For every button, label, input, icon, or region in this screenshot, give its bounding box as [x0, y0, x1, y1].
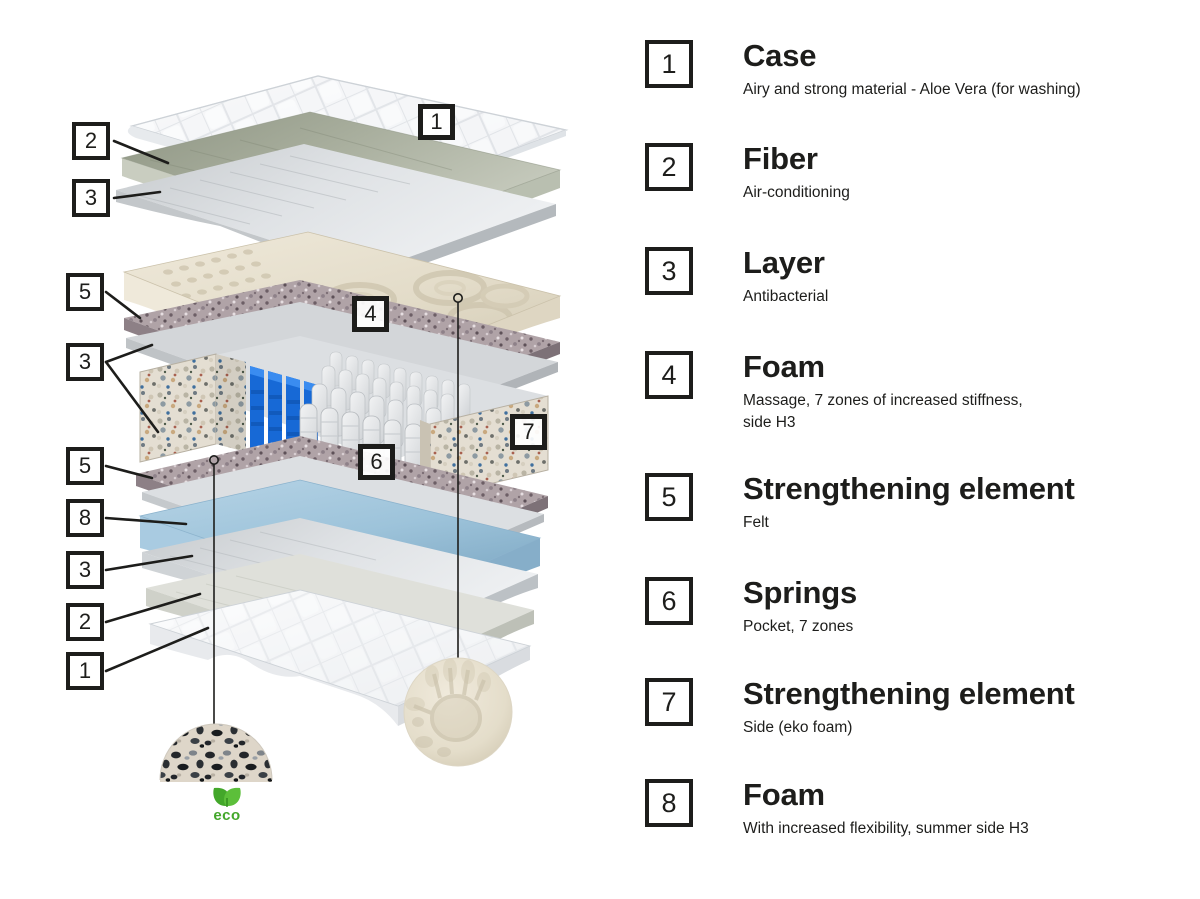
- legend-number-2: 2: [645, 143, 693, 191]
- legend-title-strengthening-side: Strengthening element: [743, 678, 1190, 710]
- legend-desc-foam-flexible: With increased flexibility, summer side …: [743, 818, 1190, 839]
- legend-title-foam-massage: Foam: [743, 351, 1190, 383]
- callout-1-case-bottom[interactable]: 1: [66, 652, 104, 690]
- legend-title-case: Case: [743, 40, 1190, 72]
- callout-5-felt-lower[interactable]: 5: [66, 447, 104, 485]
- legend-item-fiber[interactable]: 2 Fiber Air-conditioning: [645, 143, 1190, 247]
- legend-item-case[interactable]: 1 Case Airy and strong material - Aloe V…: [645, 40, 1190, 143]
- callout-5-felt-upper[interactable]: 5: [66, 273, 104, 311]
- eco-label: eco: [213, 808, 240, 823]
- legend-title-foam-flexible: Foam: [743, 779, 1190, 811]
- legend-number-8: 8: [645, 779, 693, 827]
- callout-3-layer-bottom[interactable]: 3: [66, 551, 104, 589]
- callout-3-layer-top[interactable]: 3: [72, 179, 110, 217]
- label-1-quilted-case-top[interactable]: 1: [418, 104, 455, 140]
- legend-number-3: 3: [645, 247, 693, 295]
- legend-desc-strengthening-side: Side (eko foam): [743, 717, 1190, 738]
- legend-item-strengthening-side[interactable]: 7 Strengthening element Side (eko foam): [645, 678, 1190, 779]
- legend-item-foam-massage[interactable]: 4 Foam Massage, 7 zones of increased sti…: [645, 351, 1190, 473]
- mattress-layers-infographic: 2 3 5 3 5 8 3 2 1 1 4 6 7 eco 1 Case Air…: [0, 0, 1200, 899]
- legend-desc-fiber: Air-conditioning: [743, 182, 1190, 203]
- legend-list: 1 Case Airy and strong material - Aloe V…: [645, 40, 1190, 869]
- legend-title-layer: Layer: [743, 247, 1190, 279]
- legend-number-7: 7: [645, 678, 693, 726]
- callout-3-layer-mid-fork[interactable]: 3: [66, 343, 104, 381]
- legend-desc-layer: Antibacterial: [743, 286, 1190, 307]
- legend-item-springs[interactable]: 6 Springs Pocket, 7 zones: [645, 577, 1190, 678]
- legend-title-strengthening-felt: Strengthening element: [743, 473, 1190, 505]
- legend-item-layer[interactable]: 3 Layer Antibacterial: [645, 247, 1190, 351]
- legend-desc-foam-massage: Massage, 7 zones of increased stiffness,…: [743, 390, 1190, 433]
- legend-title-springs: Springs: [743, 577, 1190, 609]
- legend-number-6: 6: [645, 577, 693, 625]
- legend-number-4: 4: [645, 351, 693, 399]
- legend-title-fiber: Fiber: [743, 143, 1190, 175]
- legend-number-5: 5: [645, 473, 693, 521]
- label-4-massage-foam[interactable]: 4: [352, 296, 389, 332]
- detail-memoryfoam-handprint: [404, 658, 512, 766]
- legend-number-1: 1: [645, 40, 693, 88]
- legend-desc-strengthening-felt: Felt: [743, 512, 1190, 533]
- eco-badge: eco: [196, 784, 258, 823]
- callout-2-fiber-bottom[interactable]: 2: [66, 603, 104, 641]
- legend-desc-case: Airy and strong material - Aloe Vera (fo…: [743, 79, 1190, 100]
- label-7-eko-foam-side[interactable]: 7: [510, 414, 547, 450]
- mattress-exploded-diagram: 2 3 5 3 5 8 3 2 1 1 4 6 7 eco: [0, 0, 645, 899]
- callout-2-fiber-top[interactable]: 2: [72, 122, 110, 160]
- legend-item-strengthening-felt[interactable]: 5 Strengthening element Felt: [645, 473, 1190, 577]
- label-6-pocket-springs[interactable]: 6: [358, 444, 395, 480]
- callout-8-foam-blue[interactable]: 8: [66, 499, 104, 537]
- detail-eco-foam-texture: [158, 718, 274, 784]
- legend-desc-springs: Pocket, 7 zones: [743, 616, 1190, 637]
- legend-item-foam-flexible[interactable]: 8 Foam With increased flexibility, summe…: [645, 779, 1190, 869]
